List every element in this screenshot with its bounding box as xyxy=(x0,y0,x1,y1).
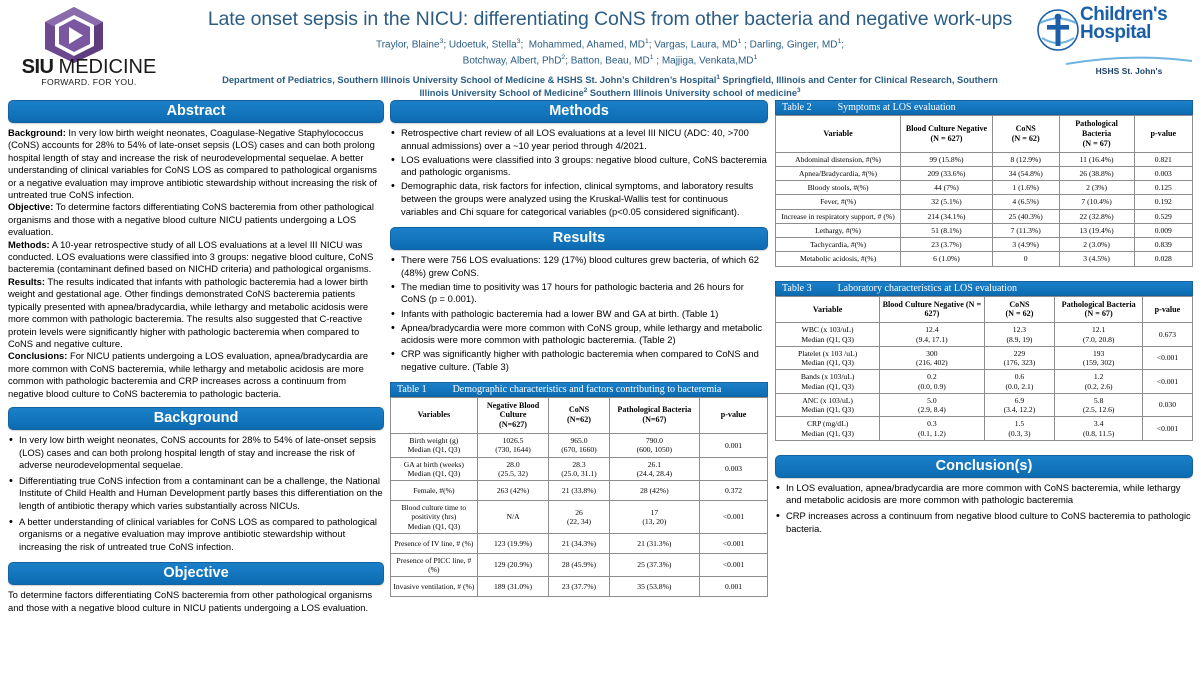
column-header: Blood Culture Negative(N = 627) xyxy=(901,116,993,153)
table-cell-var: Invasive ventilation, # (%) xyxy=(391,577,478,597)
table-cell-path: 2 (3.0%) xyxy=(1059,238,1134,252)
list-item: Demographic data, risk factors for infec… xyxy=(390,180,768,218)
column-header: p-value xyxy=(1134,116,1192,153)
table-cell-path: 2 (3%) xyxy=(1059,181,1134,195)
table1-caption-text: Demographic characteristics and factors … xyxy=(453,384,722,395)
table-cell-p: 0.125 xyxy=(1134,181,1192,195)
table-cell-var: Metabolic acidosis, #(%) xyxy=(776,252,901,266)
table-cell-neg: 1026.5(730, 1644) xyxy=(477,434,549,458)
table-cell-path: 12.1(7.0, 20.8) xyxy=(1055,323,1143,347)
background-bullets: In very low birth weight neonates, CoNS … xyxy=(8,434,384,553)
table-cell-p: <0.001 xyxy=(1142,346,1192,370)
table-cell-cons: 229(176, 323) xyxy=(984,346,1055,370)
column-header: CoNS(N=62) xyxy=(549,397,609,434)
column-header: Pathological Bacteria(N = 67) xyxy=(1055,296,1143,323)
list-item: In LOS evaluation, apnea/bradycardia are… xyxy=(775,482,1193,507)
table-cell-var: Presence of PICC line, #(%) xyxy=(391,553,478,577)
table-cell-cons: 28 (45.9%) xyxy=(549,553,609,577)
abstract-paragraph-label: Results: xyxy=(8,276,45,287)
abstract-paragraph: Conclusions: For NICU patients undergoin… xyxy=(8,350,384,400)
table-cell-neg: 28.0(25.5, 32) xyxy=(477,457,549,481)
table-cell-cons: 7 (11.3%) xyxy=(992,223,1059,237)
table-header-row: VariablesNegative Blood Culture(N=627)Co… xyxy=(391,397,768,434)
table-row: Presence of IV line, # (%)123 (19.9%)21 … xyxy=(391,533,768,553)
table-cell-var: Female, #(%) xyxy=(391,481,478,501)
siu-logo-wordmark: SIU MEDICINE xyxy=(14,56,164,79)
section-header-conclusions: Conclusion(s) xyxy=(775,455,1193,478)
table-row: Apnea/Bradycardia, #(%)209 (33.6%)34 (54… xyxy=(776,166,1193,180)
table-cell-cons: 26(22, 34) xyxy=(549,501,609,534)
table-cell-path: 25 (37.3%) xyxy=(609,553,699,577)
siu-logo-tagline: FORWARD. FOR YOU. xyxy=(14,77,164,87)
table-cell-p: 0.673 xyxy=(1142,323,1192,347)
table-row: Birth weight (g)Median (Q1, Q3)1026.5(73… xyxy=(391,434,768,458)
table-cell-var: Blood culture time to positivity (hrs)Me… xyxy=(391,501,478,534)
column-header: Variable xyxy=(776,116,901,153)
table-row: Invasive ventilation, # (%)189 (31.0%)23… xyxy=(391,577,768,597)
table3-caption-text: Laboratory characteristics at LOS evalua… xyxy=(838,283,1017,294)
table-cell-path: 22 (32.8%) xyxy=(1059,209,1134,223)
results-bullets: There were 756 LOS evaluations: 129 (17%… xyxy=(390,254,768,373)
table-cell-path: 26.1(24.4, 28.4) xyxy=(609,457,699,481)
table-cell-neg: 129 (20.9%) xyxy=(477,553,549,577)
table-cell-cons: 12.3(8.9, 19) xyxy=(984,323,1055,347)
list-item: CRP was significantly higher with pathol… xyxy=(390,348,768,373)
section-header-abstract: Abstract xyxy=(8,100,384,123)
table-cell-p: 0.372 xyxy=(700,481,768,501)
table-row: WBC (x 103/uL)Median (Q1, Q3)12.4(9.4, 1… xyxy=(776,323,1193,347)
table-row: Lethargy, #(%)51 (8.1%)7 (11.3%)13 (19.4… xyxy=(776,223,1193,237)
table-cell-var: Bloody stools, #(%) xyxy=(776,181,901,195)
table-cell-neg: 300(216, 402) xyxy=(880,346,984,370)
abstract-paragraph: Results: The results indicated that infa… xyxy=(8,276,384,350)
table-cell-cons: 965.0(670, 1660) xyxy=(549,434,609,458)
table-cell-var: GA at birth (weeks)Median (Q1, Q3) xyxy=(391,457,478,481)
table-row: Bloody stools, #(%)44 (7%)1 (1.6%)2 (3%)… xyxy=(776,181,1193,195)
table-row: Blood culture time to positivity (hrs)Me… xyxy=(391,501,768,534)
table-cell-neg: 0.2(0.0, 0.9) xyxy=(880,370,984,394)
table-cell-neg: 32 (5.1%) xyxy=(901,195,993,209)
poster-header: SIU MEDICINE FORWARD. FOR YOU. Late onse… xyxy=(0,0,1200,98)
chs-subtitle: HSHS St. John's xyxy=(1064,66,1194,76)
table-cell-cons: 1.5(0.3, 3) xyxy=(984,417,1055,441)
section-header-background: Background xyxy=(8,407,384,430)
table-cell-neg: 23 (3.7%) xyxy=(901,238,993,252)
childrens-hospital-emblem-icon xyxy=(1036,8,1080,54)
table1-caption: Table 1 Demographic characteristics and … xyxy=(390,382,768,397)
abstract-paragraph: Background: In very low birth weight neo… xyxy=(8,127,384,201)
list-item: Apnea/bradycardia were more common with … xyxy=(390,322,768,347)
table-cell-neg: 189 (31.0%) xyxy=(477,577,549,597)
table-cell-cons: 8 (12.9%) xyxy=(992,152,1059,166)
table-cell-neg: N/A xyxy=(477,501,549,534)
author-list: Traylor, Blaine3; Udoetuk, Stella3; Moha… xyxy=(180,37,1040,69)
table-cell-cons: 23 (37.7%) xyxy=(549,577,609,597)
table-cell-neg: 5.0(2.9, 8.4) xyxy=(880,393,984,417)
table-cell-var: Presence of IV line, # (%) xyxy=(391,533,478,553)
table-row: Presence of PICC line, #(%)129 (20.9%)28… xyxy=(391,553,768,577)
table-cell-p: <0.001 xyxy=(700,553,768,577)
affiliations: Department of Pediatrics, Southern Illin… xyxy=(180,74,1040,99)
column-header: Blood Culture Negative (N = 627) xyxy=(880,296,984,323)
table-cell-neg: 209 (33.6%) xyxy=(901,166,993,180)
poster-title: Late onset sepsis in the NICU: different… xyxy=(180,8,1040,30)
column-header: Variables xyxy=(391,397,478,434)
abstract-body: Background: In very low birth weight neo… xyxy=(8,127,384,400)
table-cell-var: Fever, #(%) xyxy=(776,195,901,209)
table2-caption: Table 2 Symptoms at LOS evaluation xyxy=(775,100,1193,115)
table-row: Bands (x 103/uL)Median (Q1, Q3)0.2(0.0, … xyxy=(776,370,1193,394)
table-row: Female, #(%)263 (42%)21 (33.8%)28 (42%)0… xyxy=(391,481,768,501)
table-row: Fever, #(%)32 (5.1%)4 (6.5%)7 (10.4%)0.1… xyxy=(776,195,1193,209)
table-cell-var: Apnea/Bradycardia, #(%) xyxy=(776,166,901,180)
right-column: Table 2 Symptoms at LOS evaluation Varia… xyxy=(775,100,1193,538)
table-cell-cons: 28.3(25.0, 31.1) xyxy=(549,457,609,481)
table-cell-neg: 12.4(9.4, 17.1) xyxy=(880,323,984,347)
table-cell-p: 0.030 xyxy=(1142,393,1192,417)
list-item: LOS evaluations were classified into 3 g… xyxy=(390,154,768,179)
table-cell-p: 0.003 xyxy=(1134,166,1192,180)
column-header: p-value xyxy=(700,397,768,434)
table-row: ANC (x 103/uL)Median (Q1, Q3)5.0(2.9, 8.… xyxy=(776,393,1193,417)
abstract-paragraph: Objective: To determine factors differen… xyxy=(8,201,384,238)
abstract-paragraph-label: Background: xyxy=(8,127,66,138)
table-cell-p: 0.821 xyxy=(1134,152,1192,166)
table-cell-path: 21 (31.3%) xyxy=(609,533,699,553)
list-item: CRP increases across a continuum from ne… xyxy=(775,510,1193,535)
column-header: CoNS(N = 62) xyxy=(992,116,1059,153)
table-header-row: VariableBlood Culture Negative (N = 627)… xyxy=(776,296,1193,323)
table1: VariablesNegative Blood Culture(N=627)Co… xyxy=(390,397,768,598)
table-cell-path: 5.8(2.5, 12.6) xyxy=(1055,393,1143,417)
list-item: Differentiating true CoNS infection from… xyxy=(8,475,384,513)
childrens-hospital-name: Children's Hospital xyxy=(1080,6,1196,42)
list-item: The median time to positivity was 17 hou… xyxy=(390,281,768,306)
section-header-results: Results xyxy=(390,227,768,250)
table-row: Increase in respiratory support, # (%)21… xyxy=(776,209,1193,223)
column-header: p-value xyxy=(1142,296,1192,323)
column-header: Variable xyxy=(776,296,880,323)
table-cell-path: 193(159, 302) xyxy=(1055,346,1143,370)
table-cell-p: <0.001 xyxy=(1142,370,1192,394)
table-cell-p: 0.001 xyxy=(700,434,768,458)
table-cell-var: Platelet (x 103 /uL)Median (Q1, Q3) xyxy=(776,346,880,370)
table-cell-cons: 34 (54.8%) xyxy=(992,166,1059,180)
abstract-paragraph-label: Conclusions: xyxy=(8,350,67,361)
table-cell-p: 0.028 xyxy=(1134,252,1192,266)
siu-medicine-logo: SIU MEDICINE FORWARD. FOR YOU. xyxy=(14,4,164,92)
affiliation-line-1: Department of Pediatrics, Southern Illin… xyxy=(180,74,1040,87)
chs-line-2: Hospital xyxy=(1080,24,1196,42)
table-cell-neg: 6 (1.0%) xyxy=(901,252,993,266)
table-cell-p: 0.001 xyxy=(700,577,768,597)
chs-swoosh-icon xyxy=(1064,56,1194,66)
table-cell-p: <0.001 xyxy=(700,501,768,534)
list-item: Retrospective chart review of all LOS ev… xyxy=(390,127,768,152)
table-cell-neg: 123 (19.9%) xyxy=(477,533,549,553)
column-header: CoNS(N = 62) xyxy=(984,296,1055,323)
table-cell-var: Lethargy, #(%) xyxy=(776,223,901,237)
table-cell-var: CRP (mg/dL)Median (Q1, Q3) xyxy=(776,417,880,441)
table-cell-var: Birth weight (g)Median (Q1, Q3) xyxy=(391,434,478,458)
abstract-paragraph-label: Methods: xyxy=(8,239,50,250)
table-row: Tachycardia, #(%)23 (3.7%)3 (4.9%)2 (3.0… xyxy=(776,238,1193,252)
table-cell-path: 17(13, 20) xyxy=(609,501,699,534)
table-cell-var: WBC (x 103/uL)Median (Q1, Q3) xyxy=(776,323,880,347)
table-row: GA at birth (weeks)Median (Q1, Q3)28.0(2… xyxy=(391,457,768,481)
title-block: Late onset sepsis in the NICU: different… xyxy=(180,8,1040,99)
column-header: Pathological Bacteria(N = 67) xyxy=(1059,116,1134,153)
table-cell-var: Increase in respiratory support, # (%) xyxy=(776,209,901,223)
table3: VariableBlood Culture Negative (N = 627)… xyxy=(775,296,1193,441)
table-cell-neg: 0.3(0.1, 1.2) xyxy=(880,417,984,441)
table-cell-cons: 3 (4.9%) xyxy=(992,238,1059,252)
column-header: Pathological Bacteria(N=67) xyxy=(609,397,699,434)
table-row: Platelet (x 103 /uL)Median (Q1, Q3)300(2… xyxy=(776,346,1193,370)
objective-body: To determine factors differentiating CoN… xyxy=(8,589,384,614)
siu-logo-medicine: MEDICINE xyxy=(59,56,157,78)
table-cell-cons: 25 (40.3%) xyxy=(992,209,1059,223)
table-cell-path: 790.0(600, 1050) xyxy=(609,434,699,458)
author-line-2: Botchway, Albert, PhD2; Batton, Beau, MD… xyxy=(180,53,1040,69)
table-row: Abdominal distension, #(%)99 (15.8%)8 (1… xyxy=(776,152,1193,166)
table-cell-cons: 0 xyxy=(992,252,1059,266)
table-cell-cons: 6.9(3.4, 12.2) xyxy=(984,393,1055,417)
table-row: CRP (mg/dL)Median (Q1, Q3)0.3(0.1, 1.2)1… xyxy=(776,417,1193,441)
table-cell-path: 28 (42%) xyxy=(609,481,699,501)
table-cell-path: 1.2(0.2, 2.6) xyxy=(1055,370,1143,394)
table3-label: Table 3 xyxy=(782,283,812,294)
table-cell-path: 3 (4.5%) xyxy=(1059,252,1134,266)
table-cell-cons: 21 (34.3%) xyxy=(549,533,609,553)
middle-column: Methods Retrospective chart review of al… xyxy=(390,100,768,597)
abstract-paragraph: Methods: A 10-year retrospective study o… xyxy=(8,239,384,276)
table-cell-cons: 4 (6.5%) xyxy=(992,195,1059,209)
table-cell-cons: 1 (1.6%) xyxy=(992,181,1059,195)
childrens-hospital-logo: Children's Hospital HSHS St. John's xyxy=(1034,4,1194,90)
table-cell-p: 0.839 xyxy=(1134,238,1192,252)
list-item: A better understanding of clinical varia… xyxy=(8,516,384,554)
table-cell-var: ANC (x 103/uL)Median (Q1, Q3) xyxy=(776,393,880,417)
table-cell-cons: 21 (33.8%) xyxy=(549,481,609,501)
methods-bullets: Retrospective chart review of all LOS ev… xyxy=(390,127,768,218)
table-cell-path: 3.4(0.8, 11.5) xyxy=(1055,417,1143,441)
table-cell-p: <0.001 xyxy=(1142,417,1192,441)
list-item: There were 756 LOS evaluations: 129 (17%… xyxy=(390,254,768,279)
table2: VariableBlood Culture Negative(N = 627)C… xyxy=(775,115,1193,267)
table-cell-p: 0.009 xyxy=(1134,223,1192,237)
table-cell-path: 35 (53.8%) xyxy=(609,577,699,597)
table-cell-path: 13 (19.4%) xyxy=(1059,223,1134,237)
table-cell-neg: 99 (15.8%) xyxy=(901,152,993,166)
table-header-row: VariableBlood Culture Negative(N = 627)C… xyxy=(776,116,1193,153)
table-cell-neg: 263 (42%) xyxy=(477,481,549,501)
table-cell-cons: 0.6(0.0, 2.1) xyxy=(984,370,1055,394)
section-header-methods: Methods xyxy=(390,100,768,123)
table-cell-var: Abdominal distension, #(%) xyxy=(776,152,901,166)
table-cell-path: 11 (16.4%) xyxy=(1059,152,1134,166)
table-cell-p: 0.192 xyxy=(1134,195,1192,209)
affiliation-line-2: Illinois University School of Medicine2 … xyxy=(180,87,1040,100)
section-header-objective: Objective xyxy=(8,562,384,585)
table-cell-neg: 51 (8.1%) xyxy=(901,223,993,237)
conclusions-bullets: In LOS evaluation, apnea/bradycardia are… xyxy=(775,482,1193,535)
table-cell-p: <0.001 xyxy=(700,533,768,553)
list-item: In very low birth weight neonates, CoNS … xyxy=(8,434,384,472)
table-cell-neg: 44 (7%) xyxy=(901,181,993,195)
table-cell-var: Tachycardia, #(%) xyxy=(776,238,901,252)
table-cell-path: 26 (38.8%) xyxy=(1059,166,1134,180)
table3-caption: Table 3 Laboratory characteristics at LO… xyxy=(775,281,1193,296)
list-item: Infants with pathologic bacteremia had a… xyxy=(390,308,768,321)
table2-label: Table 2 xyxy=(782,102,812,113)
table-cell-path: 7 (10.4%) xyxy=(1059,195,1134,209)
table-cell-var: Bands (x 103/uL)Median (Q1, Q3) xyxy=(776,370,880,394)
table-cell-neg: 214 (34.1%) xyxy=(901,209,993,223)
siu-logo-siu: SIU xyxy=(22,56,54,78)
table-row: Metabolic acidosis, #(%)6 (1.0%)03 (4.5%… xyxy=(776,252,1193,266)
abstract-paragraph-label: Objective: xyxy=(8,201,53,212)
column-header: Negative Blood Culture(N=627) xyxy=(477,397,549,434)
left-column: Abstract Background: In very low birth w… xyxy=(8,100,384,614)
author-line-1: Traylor, Blaine3; Udoetuk, Stella3; Moha… xyxy=(180,37,1040,53)
table1-label: Table 1 xyxy=(397,384,427,395)
table-cell-p: 0.529 xyxy=(1134,209,1192,223)
table2-caption-text: Symptoms at LOS evaluation xyxy=(838,102,956,113)
table-cell-p: 0.003 xyxy=(700,457,768,481)
